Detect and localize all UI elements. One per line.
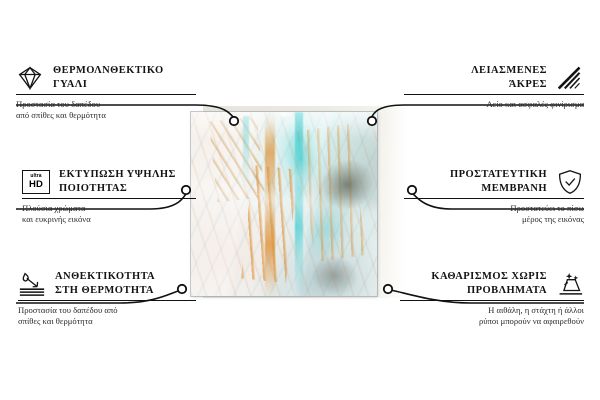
divider: [18, 300, 196, 301]
divider: [16, 94, 196, 95]
diamond-icon: [16, 65, 44, 91]
heat-resistance-icon: [18, 271, 46, 297]
feature-description: Προστασία του δαπέδου απόσπίθες και θερμ…: [18, 305, 196, 328]
callout-dot: [384, 285, 392, 293]
divider: [404, 198, 584, 199]
feature-description: Προστατεύει το πίσωμέρος της εικόνας: [404, 203, 584, 226]
divider: [22, 198, 196, 199]
feature-polished-edges: ΛΕΙΑΣΜΕΝΕΣΆΚΡΕΣ Λείο και ασφαλές φινίρισ…: [404, 64, 584, 110]
feature-description: Προστασία του δαπέδουαπό σπίθες και θερμ…: [16, 99, 196, 122]
feature-title: ΠΡΟΣΤΑΤΕΥΤΙΚΗΜΕΜΒΡΑΝΗ: [450, 168, 547, 195]
feature-title: ΛΕΙΑΣΜΕΝΕΣΆΚΡΕΣ: [471, 64, 547, 91]
feature-description: Λείο και ασφαλές φινίρισμα: [404, 99, 584, 110]
infographic-stage: ΘΕΡΜΟΛΝΘΕΚΤΙΚΟΓΥΑΛΙ Προστασία του δαπέδο…: [0, 0, 600, 400]
feature-title: ΕΚΤΥΠΩΣΗ ΥΨΗΛΗΣΠΟΙΟΤΗΤΑΣ: [59, 168, 176, 195]
polished-edges-icon: [556, 65, 584, 91]
feature-title: ΘΕΡΜΟΛΝΘΕΚΤΙΚΟΓΥΑΛΙ: [53, 64, 164, 91]
callout-dot: [368, 117, 376, 125]
feature-heat-resistant-glass: ΘΕΡΜΟΛΝΘΕΚΤΙΚΟΓΥΑΛΙ Προστασία του δαπέδο…: [16, 64, 196, 122]
ultra-hd-badge-icon: ultra HD: [22, 170, 50, 194]
shield-check-icon: [556, 169, 584, 195]
feature-description: Πλούσια χρώματακαι ευκρινής εικόνα: [22, 203, 196, 226]
divider: [404, 94, 584, 95]
divider: [400, 300, 584, 301]
feature-title: ΑΝΘΕΚΤΙΚΟΤΗΤΑΣΤΗ ΘΕΡΜΟΤΗΤΑ: [55, 270, 155, 297]
feature-easy-cleaning: ΚΑΘΑΡΙΣΜΟΣ ΧΩΡΙΣΠΡΟΒΛΗΜΑΤΑ: [400, 270, 584, 328]
easy-cleaning-icon: [556, 271, 584, 297]
feature-heat-durability: ΑΝΘΕΚΤΙΚΟΤΗΤΑΣΤΗ ΘΕΡΜΟΤΗΤΑ Προστασία του…: [18, 270, 196, 328]
feature-description: Η αιθάλη, η στάχτη ή άλλοιρύποι μπορούν …: [400, 305, 584, 328]
feature-protective-membrane: ΠΡΟΣΤΑΤΕΥΤΙΚΗΜΕΜΒΡΑΝΗ Προστατεύει το πίσ…: [404, 168, 584, 226]
feature-high-quality-print: ultra HD ΕΚΤΥΠΩΣΗ ΥΨΗΛΗΣΠΟΙΟΤΗΤΑΣ Πλούσι…: [22, 168, 196, 226]
feature-title: ΚΑΘΑΡΙΣΜΟΣ ΧΩΡΙΣΠΡΟΒΛΗΜΑΤΑ: [431, 270, 547, 297]
callout-dot: [230, 117, 238, 125]
